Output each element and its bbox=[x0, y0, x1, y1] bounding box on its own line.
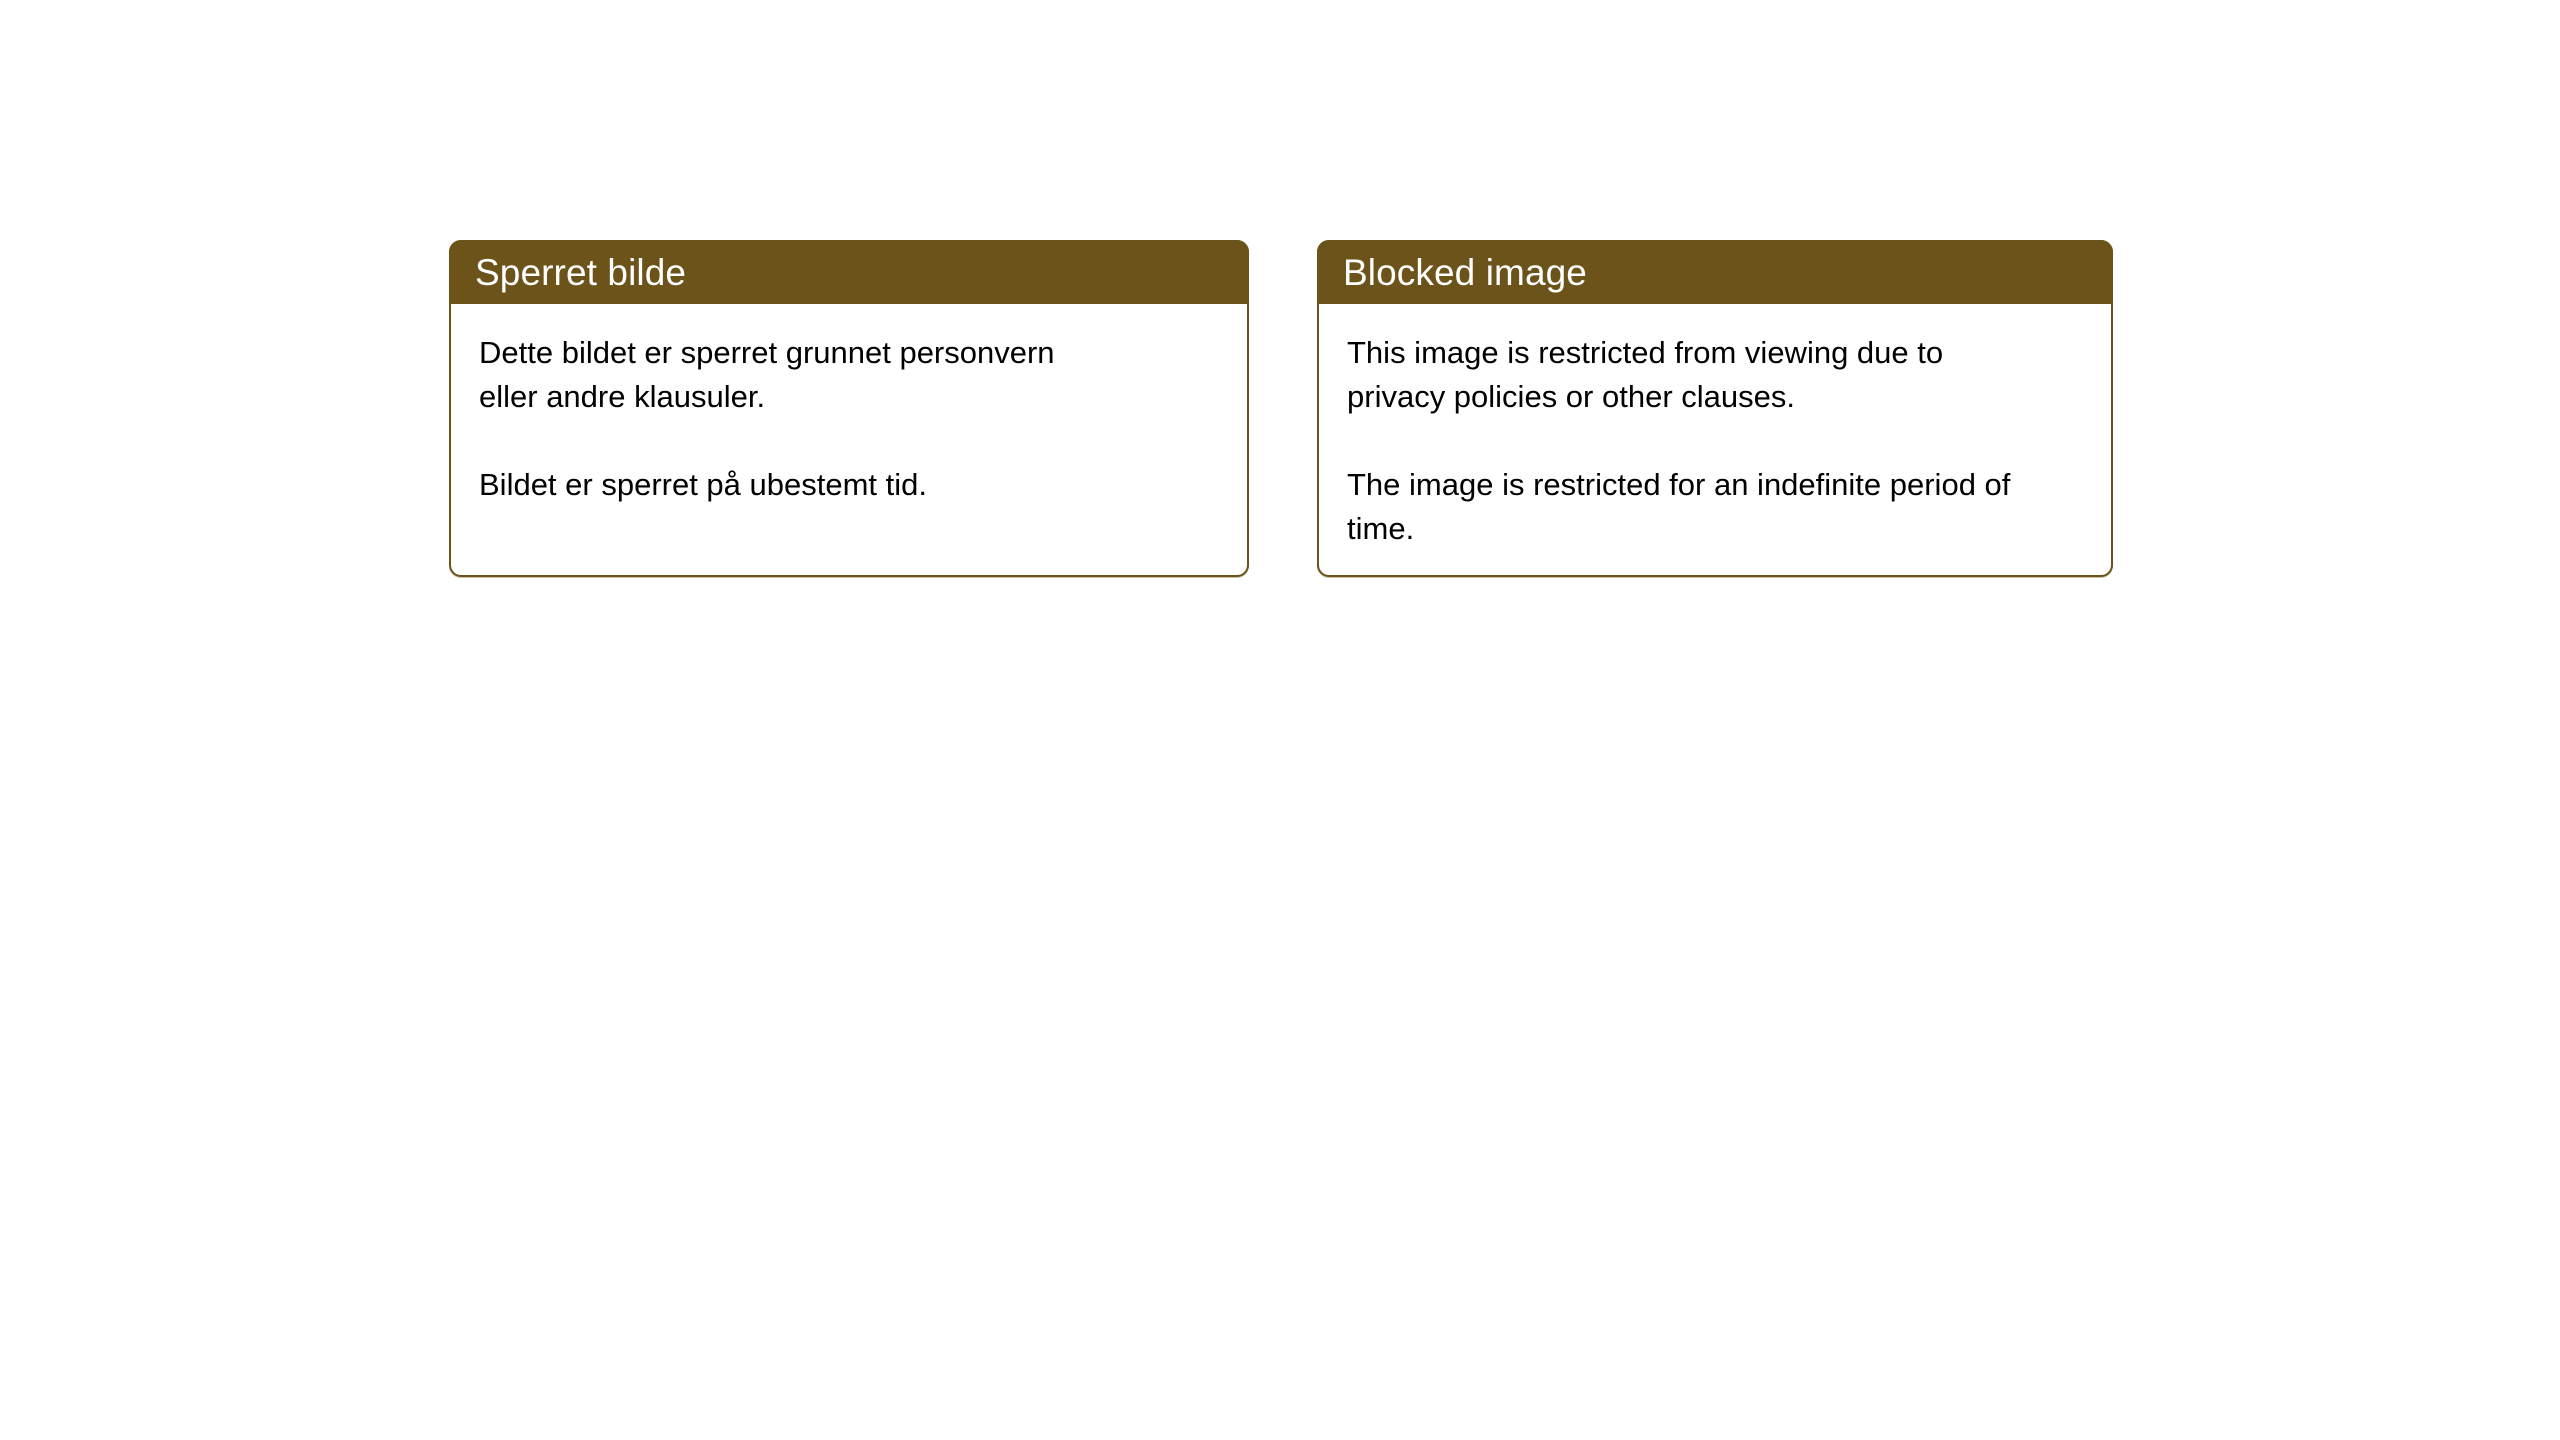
panel-header-english: Blocked image bbox=[1317, 240, 2113, 304]
panel-paragraph-reason-english: This image is restricted from viewing du… bbox=[1347, 331, 2047, 419]
blocked-image-notice-group: Sperret bilde Dette bildet er sperret gr… bbox=[449, 240, 2113, 577]
blocked-image-panel-norwegian: Sperret bilde Dette bildet er sperret gr… bbox=[449, 240, 1249, 577]
panel-title-norwegian: Sperret bilde bbox=[475, 254, 686, 291]
panel-paragraph-duration-english: The image is restricted for an indefinit… bbox=[1347, 463, 2047, 551]
panel-paragraph-duration-norwegian: Bildet er sperret på ubestemt tid. bbox=[479, 463, 1119, 507]
panel-title-english: Blocked image bbox=[1343, 254, 1587, 291]
blocked-image-panel-english: Blocked image This image is restricted f… bbox=[1317, 240, 2113, 577]
panel-body-norwegian: Dette bildet er sperret grunnet personve… bbox=[451, 304, 1247, 507]
panel-header-norwegian: Sperret bilde bbox=[449, 240, 1249, 304]
panel-body-english: This image is restricted from viewing du… bbox=[1319, 304, 2111, 551]
panel-paragraph-reason-norwegian: Dette bildet er sperret grunnet personve… bbox=[479, 331, 1119, 419]
